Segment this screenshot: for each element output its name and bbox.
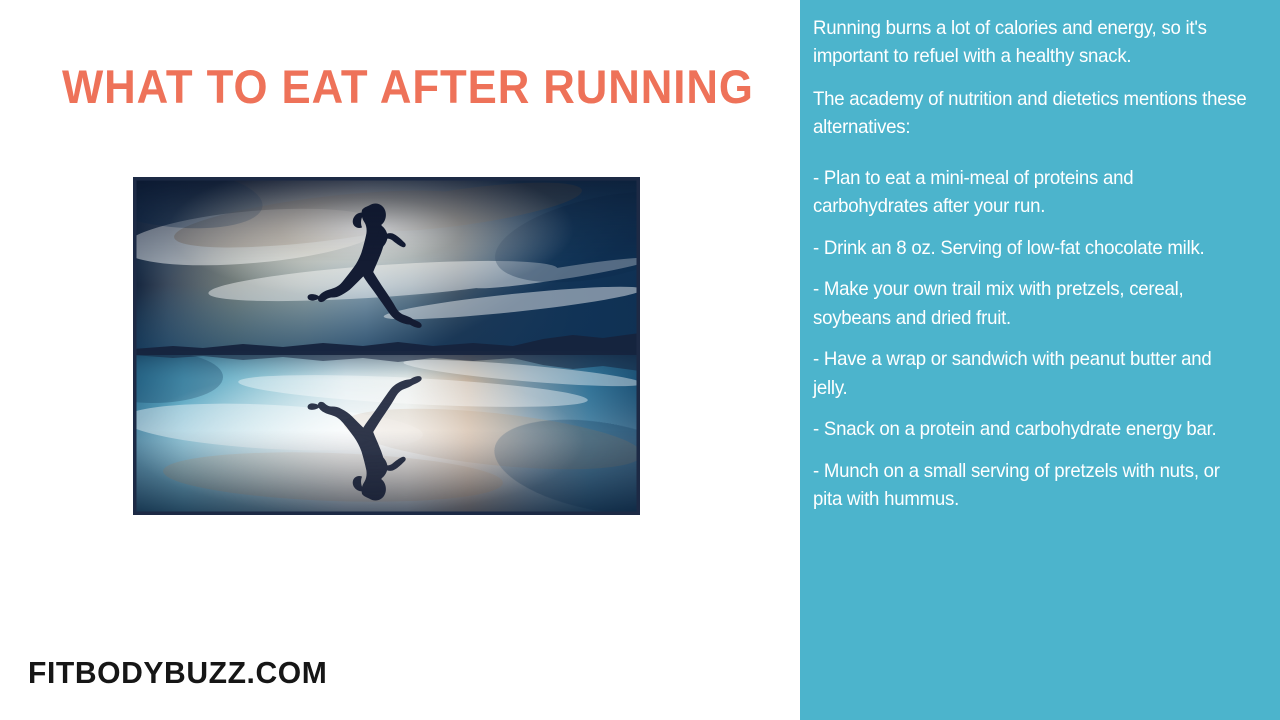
page-title: WHAT TO EAT AFTER RUNNING bbox=[62, 62, 722, 112]
tip-item: - Have a wrap or sandwich with peanut bu… bbox=[813, 345, 1249, 402]
tips-intro: Running burns a lot of calories and ener… bbox=[813, 14, 1270, 142]
tips-list: - Plan to eat a mini-meal of proteins an… bbox=[813, 164, 1270, 514]
tip-item: - Plan to eat a mini-meal of proteins an… bbox=[813, 164, 1249, 221]
runner-photo bbox=[133, 177, 640, 515]
tips-panel: Running burns a lot of calories and ener… bbox=[800, 0, 1280, 720]
tip-item: - Drink an 8 oz. Serving of low-fat choc… bbox=[813, 234, 1249, 262]
brand-footer: FITBODYBUZZ.COM bbox=[28, 655, 327, 691]
intro-paragraph-2: The academy of nutrition and dietetics m… bbox=[813, 85, 1249, 142]
intro-paragraph-1: Running burns a lot of calories and ener… bbox=[813, 14, 1249, 71]
tip-item: - Snack on a protein and carbohydrate en… bbox=[813, 415, 1249, 443]
tip-item: - Make your own trail mix with pretzels,… bbox=[813, 275, 1249, 332]
runner-photo-illustration bbox=[133, 177, 640, 515]
tip-item: - Munch on a small serving of pretzels w… bbox=[813, 457, 1249, 514]
infographic-slide: WHAT TO EAT AFTER RUNNING bbox=[0, 0, 1280, 720]
left-content-column: WHAT TO EAT AFTER RUNNING bbox=[0, 0, 800, 720]
